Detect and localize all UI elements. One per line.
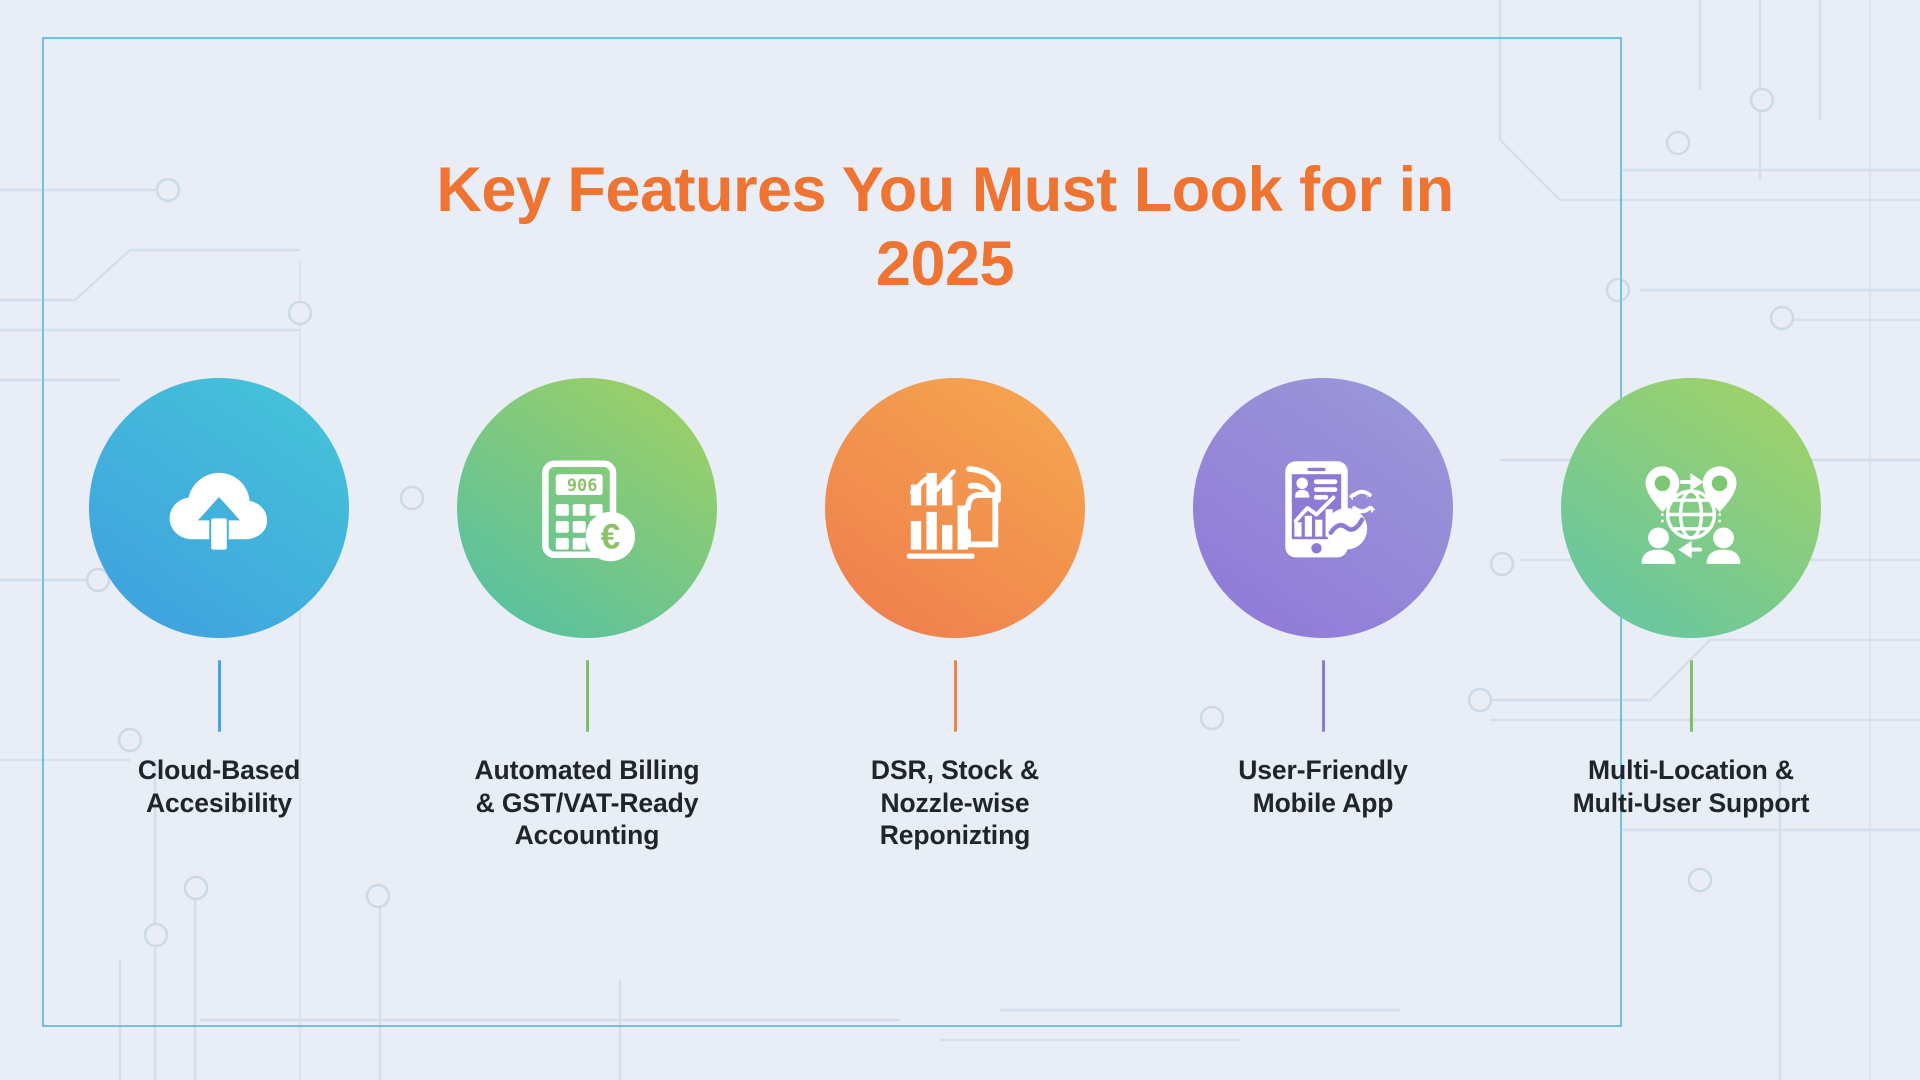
- features-row: Cloud-Based Accesibility 906: [60, 378, 1850, 852]
- feature-automated-billing-accounting[interactable]: 906 € Automat: [428, 378, 746, 852]
- feature-dsr-stock-nozzle-reporting[interactable]: DSR, Stock & Nozzle-wise Reponizting: [796, 378, 1114, 852]
- feature-label-1: Cloud-Based Accesibility: [138, 754, 300, 819]
- feature-icon-bubble-4[interactable]: [1193, 378, 1453, 638]
- page-title-line-1: Key Features You Must Look for in: [436, 155, 1453, 225]
- feature-connector-line-4: [1322, 660, 1325, 732]
- feature-connector-line-5: [1690, 660, 1693, 732]
- infographic-canvas: Key Features You Must Look for in 2025 C…: [0, 0, 1920, 1080]
- mobile-analytics-icon: [1258, 443, 1388, 573]
- page-title: Key Features You Must Look for in 2025: [290, 154, 1600, 301]
- globe-location-users-icon: [1626, 443, 1756, 573]
- svg-text:€: €: [601, 517, 621, 556]
- feature-icon-bubble-2[interactable]: 906 €: [457, 378, 717, 638]
- cloud-upload-icon: [154, 443, 284, 573]
- feature-icon-bubble-3[interactable]: [825, 378, 1085, 638]
- feature-cloud-based-accesibility[interactable]: Cloud-Based Accesibility: [60, 378, 378, 819]
- svg-text:906: 906: [567, 475, 598, 495]
- feature-label-2: Automated Billing & GST/VAT-Ready Accoun…: [474, 754, 699, 852]
- feature-connector-line-2: [586, 660, 589, 732]
- fuel-nozzle-chart-icon: [890, 443, 1020, 573]
- feature-icon-bubble-1[interactable]: [89, 378, 349, 638]
- feature-multi-location-multi-user-support[interactable]: Multi-Location & Multi-User Support: [1532, 378, 1850, 819]
- feature-connector-line-1: [218, 660, 221, 732]
- feature-label-5: Multi-Location & Multi-User Support: [1573, 754, 1810, 819]
- feature-icon-bubble-5[interactable]: [1561, 378, 1821, 638]
- feature-label-4: User-Friendly Mobile App: [1238, 754, 1408, 819]
- feature-label-3: DSR, Stock & Nozzle-wise Reponizting: [871, 754, 1039, 852]
- calculator-euro-icon: 906 €: [522, 443, 652, 573]
- feature-user-friendly-mobile-app[interactable]: User-Friendly Mobile App: [1164, 378, 1482, 819]
- feature-connector-line-3: [954, 660, 957, 732]
- page-title-line-2: 2025: [876, 229, 1014, 299]
